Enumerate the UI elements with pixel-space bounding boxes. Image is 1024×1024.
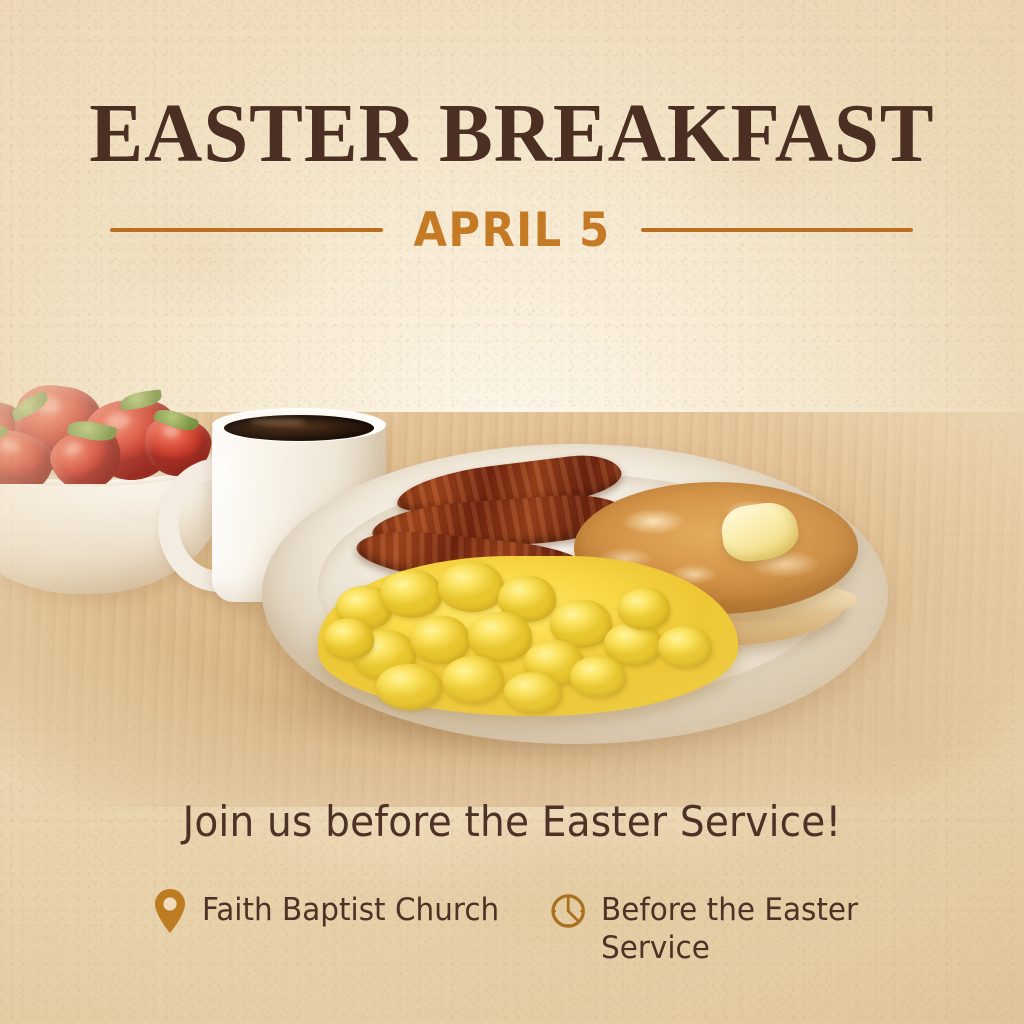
scrambled-eggs bbox=[318, 556, 738, 716]
date-rule-left bbox=[110, 228, 383, 232]
event-date: APRIL 5 bbox=[413, 207, 610, 254]
time-label: Before the Easter Service bbox=[601, 888, 858, 967]
breakfast-photo bbox=[0, 262, 1024, 807]
breakfast-plate bbox=[262, 444, 888, 744]
date-rule-right bbox=[641, 228, 914, 232]
location-label: Faith Baptist Church bbox=[202, 888, 499, 929]
coffee-highlight bbox=[250, 418, 306, 426]
page-title: EASTER BREAKFAST bbox=[20, 92, 1003, 176]
tagline: Join us before the Easter Service! bbox=[36, 798, 988, 846]
event-details: Faith Baptist Church Before the Easter S… bbox=[0, 888, 1024, 998]
easter-breakfast-poster: EASTER BREAKFAST APRIL 5 Join us before … bbox=[0, 0, 1024, 1024]
date-banner: APRIL 5 bbox=[110, 200, 913, 260]
detail-time: Before the Easter Service bbox=[551, 888, 872, 967]
egg-curds bbox=[318, 556, 738, 716]
location-pin-icon bbox=[152, 888, 188, 934]
detail-location: Faith Baptist Church bbox=[152, 888, 515, 934]
clock-icon bbox=[551, 888, 587, 934]
